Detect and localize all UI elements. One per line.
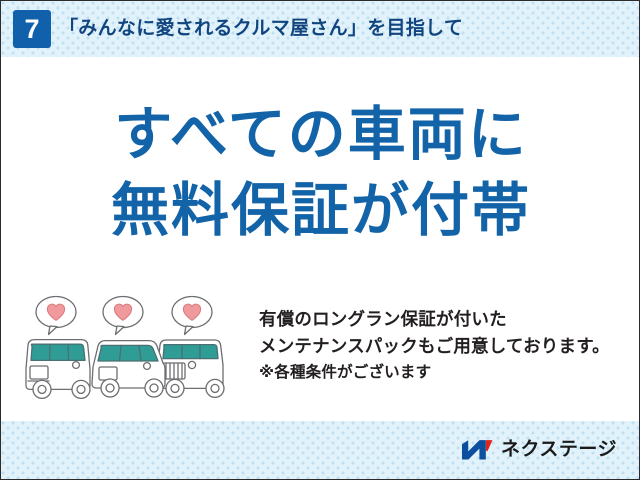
headline-line-2: 無料保証が付帯: [1, 173, 640, 249]
headline: すべての車両に 無料保証が付帯: [1, 97, 640, 249]
cars-and-bubbles-svg: [19, 293, 251, 401]
promo-line-1: 有償のロングラン保証が付いた: [259, 306, 629, 333]
promo-note: ※各種条件がございます: [259, 360, 629, 386]
brand-logo: ネクステージ: [460, 438, 617, 462]
three-cars-illustration: [19, 293, 251, 401]
promo-line-2: メンテナンスパックもご用意しております。: [259, 333, 629, 360]
nexstage-n-logo-icon: [460, 438, 494, 462]
headline-line-1: すべての車両に: [1, 97, 640, 173]
speech-bubble-1: [36, 297, 76, 335]
brand-name: ネクステージ: [501, 439, 617, 461]
promo-text-block: 有償のロングラン保証が付いた メンテナンスパックもご用意しております。 ※各種条…: [259, 306, 629, 386]
header-title: 「みんなに愛されるクルマ屋さん」を目指して: [59, 15, 463, 43]
section-number-badge: 7: [13, 10, 51, 48]
car-wagon: [92, 341, 165, 397]
speech-bubble-3: [172, 297, 212, 335]
promo-banner: 7 「みんなに愛されるクルマ屋さん」を目指して すべての車両に 無料保証が付帯: [0, 0, 640, 480]
speech-bubble-2: [103, 297, 143, 335]
car-suv: [158, 340, 224, 397]
car-minivan: [26, 340, 90, 399]
